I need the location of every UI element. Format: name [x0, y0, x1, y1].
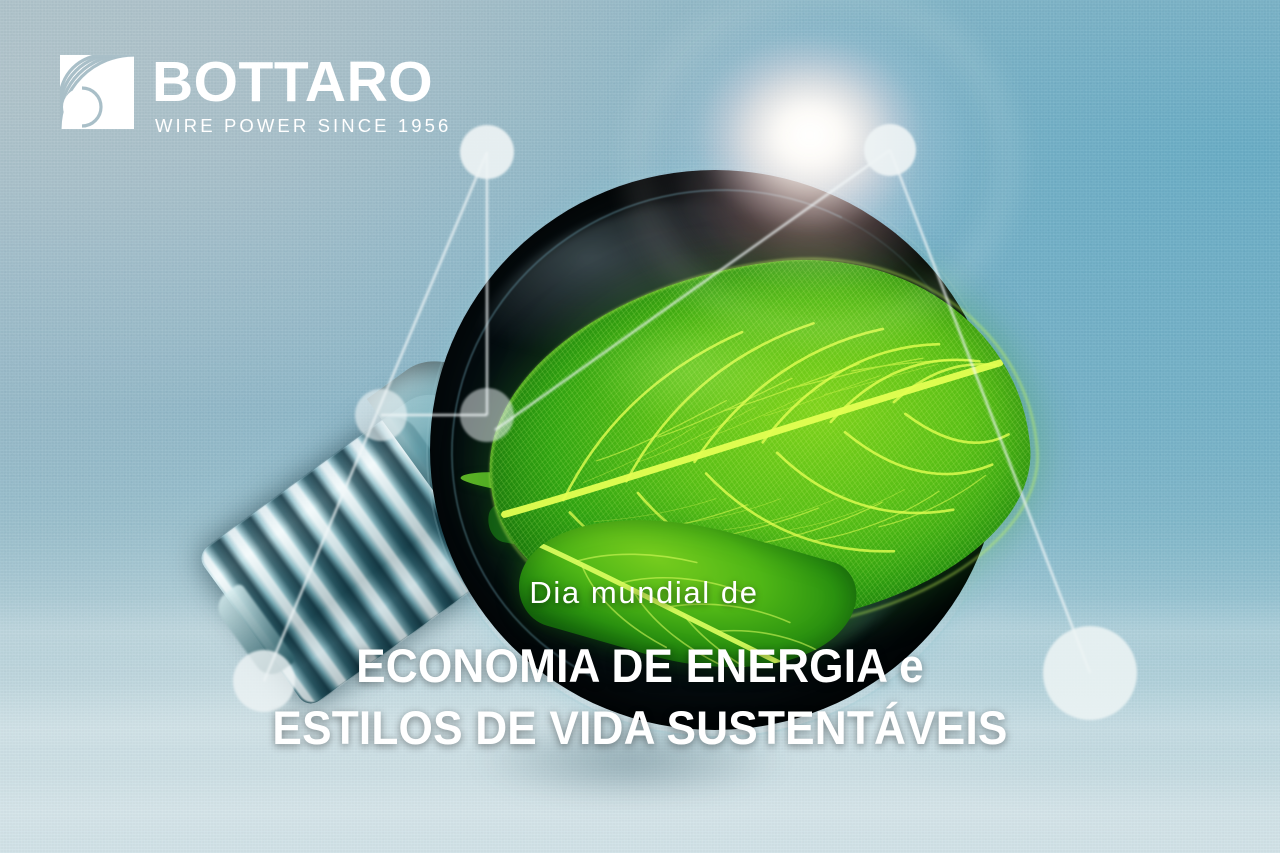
headline-kicker: Dia mundial de — [8, 575, 1280, 611]
bottaro-spiral-mark-icon — [60, 55, 134, 129]
headline-line-1: ECONOMIA DE ENERGIA e — [38, 638, 1241, 693]
poster-canvas: BOTTARO WIRE POWER SINCE 1956 Dia mundia… — [0, 0, 1280, 853]
headline-block: Dia mundial de ECONOMIA DE ENERGIA e EST… — [0, 575, 1280, 755]
node-flare-right — [864, 124, 916, 176]
node-mid-center — [460, 388, 514, 442]
bottaro-logo[interactable]: BOTTARO WIRE POWER SINCE 1956 — [60, 55, 451, 137]
logo-text-block: BOTTARO WIRE POWER SINCE 1956 — [152, 55, 451, 137]
node-mid-left — [355, 389, 407, 441]
logo-wordmark: BOTTARO — [152, 55, 451, 110]
logo-tagline: WIRE POWER SINCE 1956 — [155, 115, 451, 137]
node-top-left — [460, 125, 514, 179]
headline-line-2: ESTILOS DE VIDA SUSTENTÁVEIS — [38, 700, 1241, 755]
edge-flare-to-leftdown — [495, 150, 890, 430]
